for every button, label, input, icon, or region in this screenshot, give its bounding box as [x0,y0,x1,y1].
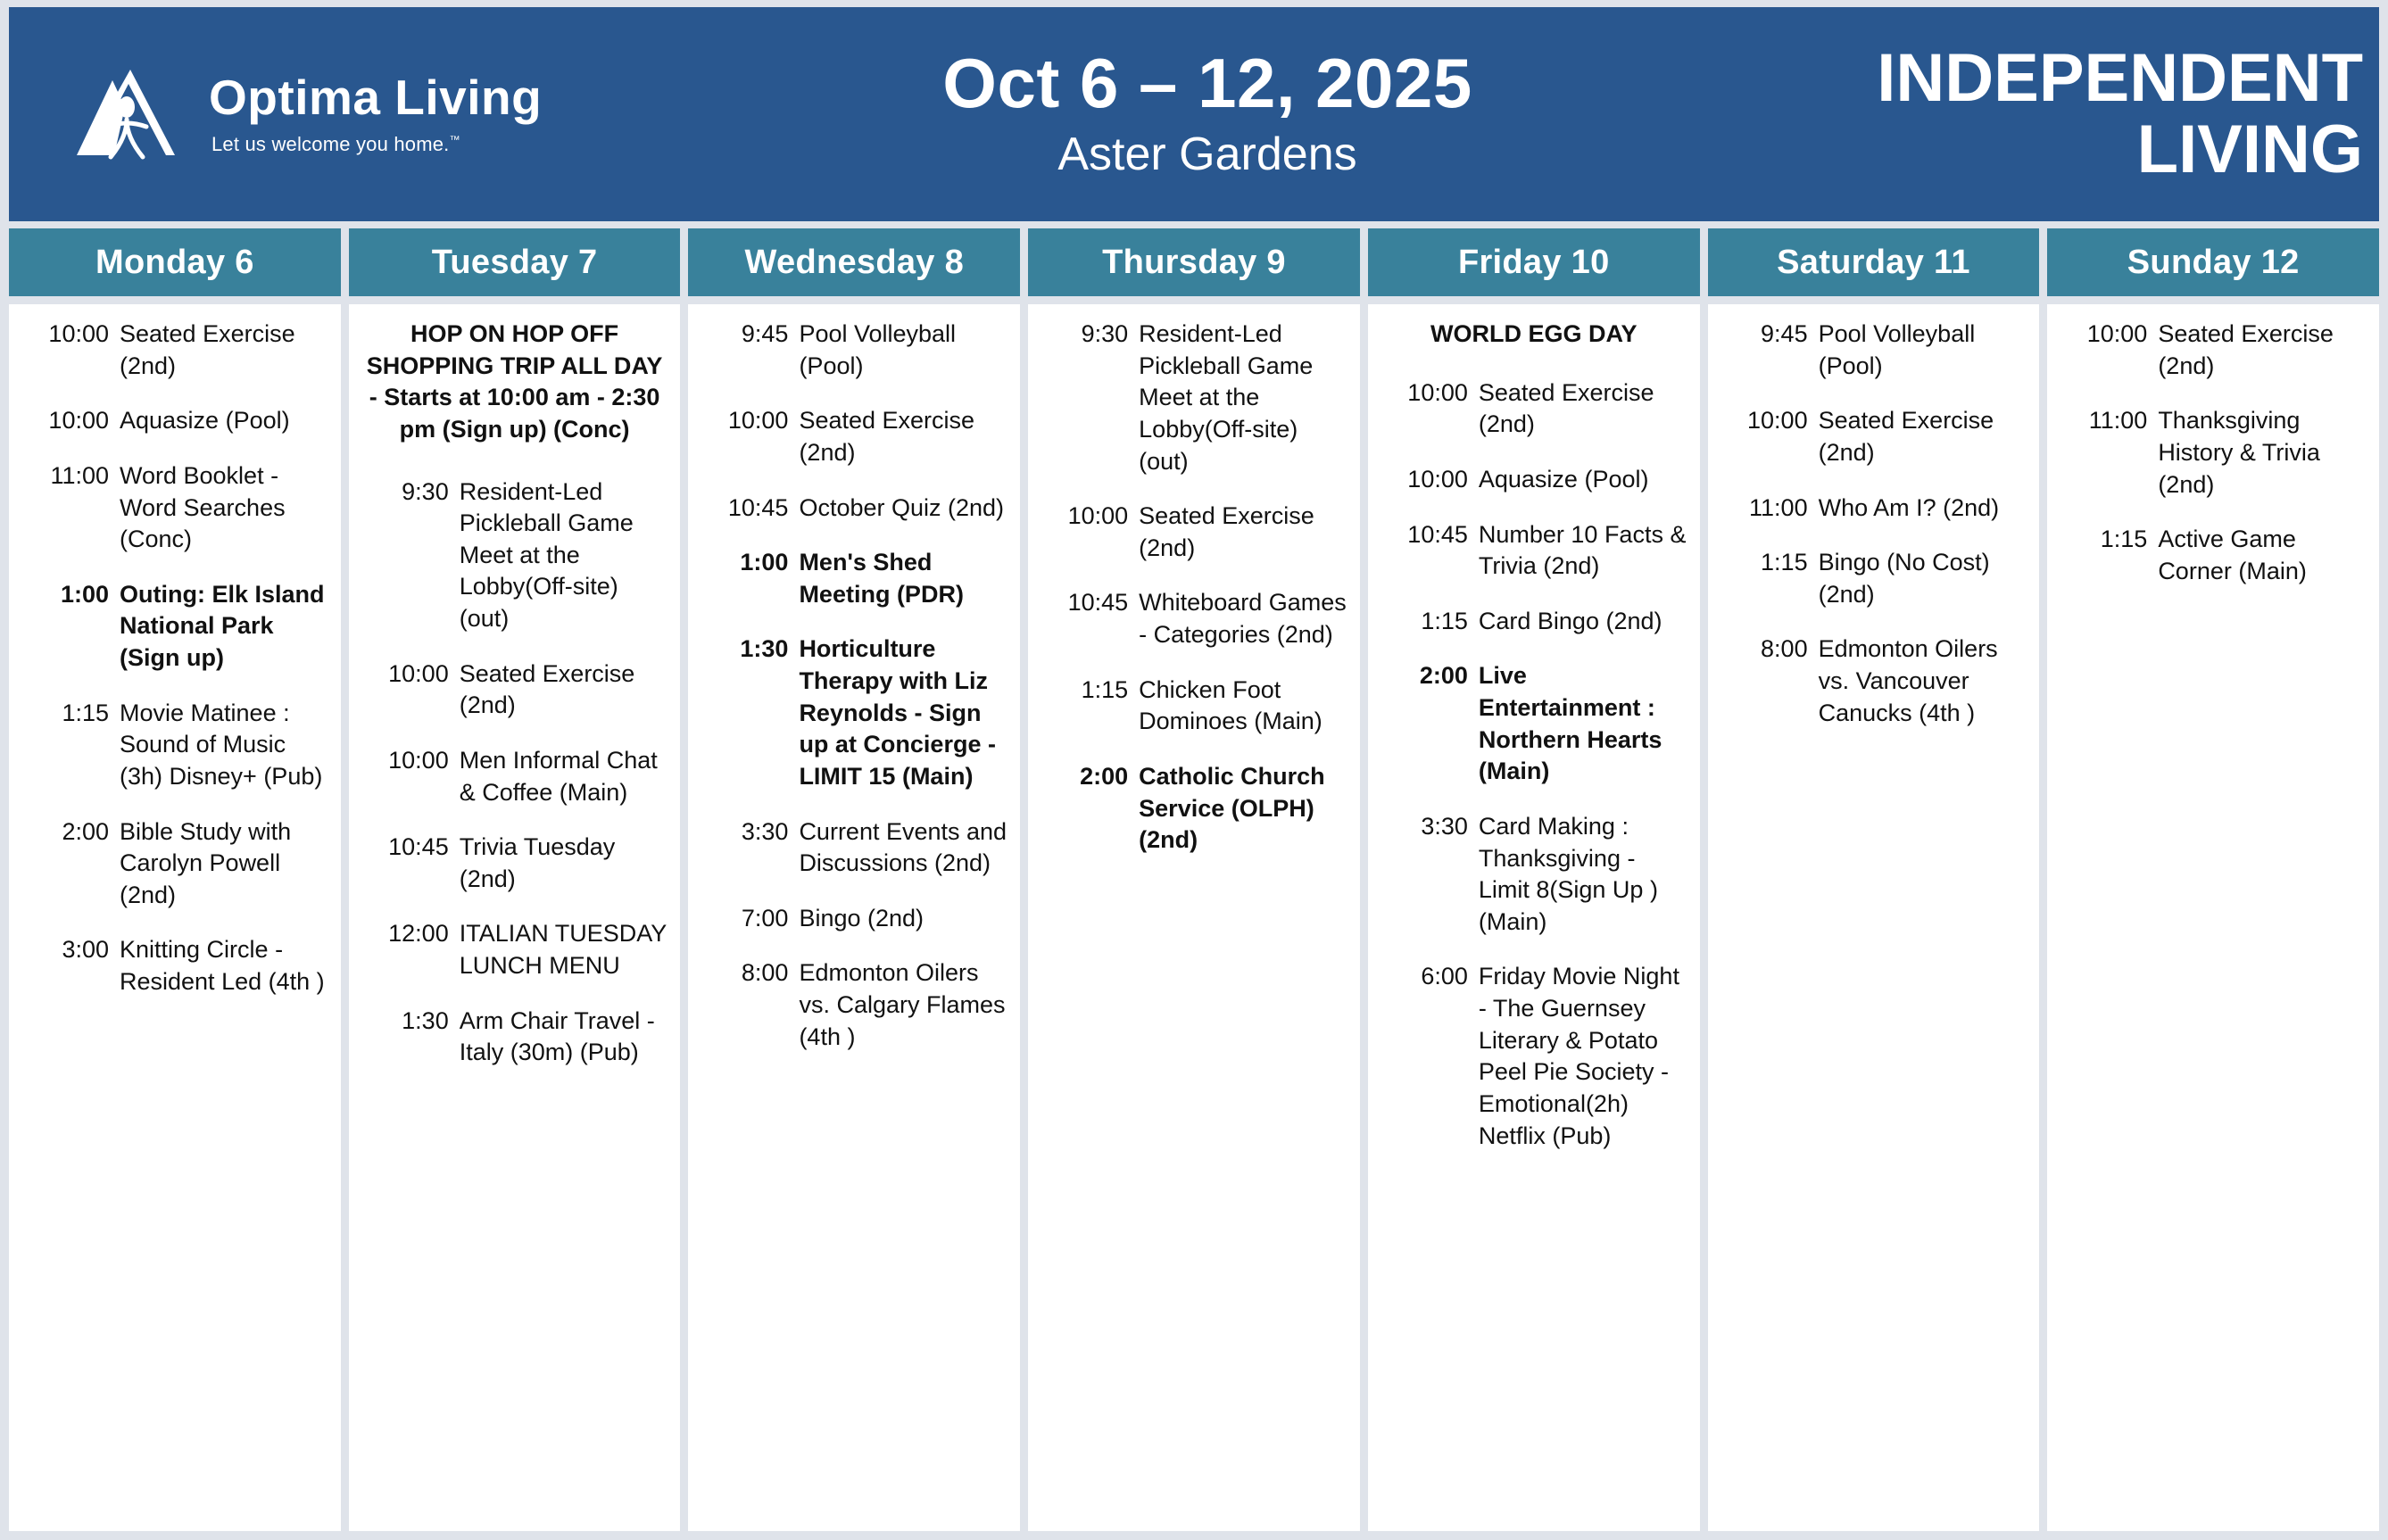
event-item: 2:00Live Entertainment : Northern Hearts… [1379,660,1689,788]
event-time: 1:15 [20,698,120,793]
event-description: Knitting Circle - Resident Led (4th ) [120,934,330,998]
trademark-symbol: ™ [450,134,460,146]
event-item: 12:00ITALIAN TUESDAY LUNCH MENU [360,918,670,981]
event-item: 11:00Thanksgiving History & Trivia (2nd) [2058,405,2368,501]
event-item: 10:00Seated Exercise (2nd) [1039,501,1349,564]
event-time: 10:00 [1379,377,1479,441]
event-time: 10:00 [699,405,799,468]
event-item: 11:00Word Booklet - Word Searches (Conc) [20,460,330,556]
event-time: 1:30 [360,1006,460,1069]
care-category-block: INDEPENDENT LIVING [1808,7,2379,221]
event-time: 2:00 [1379,660,1479,788]
event-time: 1:00 [20,579,120,675]
event-time: 10:00 [360,658,460,722]
event-item: 8:00Edmonton Oilers vs. Calgary Flames (… [699,957,1009,1053]
event-time: 2:00 [20,816,120,912]
event-description: Pool Volleyball (Pool) [1819,319,2029,382]
event-description: Edmonton Oilers vs. Calgary Flames (4th … [799,957,1009,1053]
event-description: Horticulture Therapy with Liz Reynolds -… [799,633,1009,792]
event-time: 3:00 [20,934,120,998]
event-item: 10:00Seated Exercise (2nd) [699,405,1009,468]
event-time: 9:30 [360,476,460,635]
event-description: Seated Exercise (2nd) [120,319,330,382]
event-time: 3:30 [699,816,799,880]
event-item: 9:45Pool Volleyball (Pool) [699,319,1009,382]
event-description: Seated Exercise (2nd) [1819,405,2029,468]
event-description: Seated Exercise (2nd) [1139,501,1349,564]
event-description: Bible Study with Carolyn Powell (2nd) [120,816,330,912]
event-description: Bingo (2nd) [799,903,1009,935]
event-item: 10:00Seated Exercise (2nd) [360,658,670,722]
brand-tagline: Let us welcome you home.™ [211,133,542,156]
event-description: Seated Exercise (2nd) [1479,377,1689,441]
brand-block: Optima Living Let us welcome you home.™ [9,7,705,221]
event-time: 10:45 [699,493,799,525]
date-range-title: Oct 6 – 12, 2025 [942,47,1472,120]
calendar-page: Optima Living Let us welcome you home.™ … [0,0,2388,1540]
event-description: October Quiz (2nd) [799,493,1009,525]
event-item: 10:45October Quiz (2nd) [699,493,1009,525]
event-item: 10:00Aquasize (Pool) [1379,464,1689,496]
event-time: 1:15 [1379,606,1479,638]
day-column-thursday: 9:30Resident-Led Pickleball Game Meet at… [1028,304,1360,1531]
event-time: 10:45 [1379,519,1479,583]
event-description: Resident-Led Pickleball Game Meet at the… [460,476,670,635]
event-description: Men's Shed Meeting (PDR) [799,547,1009,610]
event-time: 1:15 [1039,675,1139,738]
page-header: Optima Living Let us welcome you home.™ … [9,7,2379,221]
optima-living-mountain-logo-icon [71,64,187,164]
event-item: 10:00Seated Exercise (2nd) [1379,377,1689,441]
event-description: Card Making : Thanksgiving - Limit 8(Sig… [1479,811,1689,939]
event-time: 2:00 [1039,761,1139,857]
day-header-label: Friday 10 [1458,244,1610,282]
event-time: 10:00 [2058,319,2158,382]
event-time: 10:00 [20,319,120,382]
event-item: 3:30Current Events and Discussions (2nd) [699,816,1009,880]
event-item: 10:00Seated Exercise (2nd) [20,319,330,382]
event-item: 1:00Men's Shed Meeting (PDR) [699,547,1009,610]
event-time: 7:00 [699,903,799,935]
day-header-row: Monday 6 Tuesday 7 Wednesday 8 Thursday … [9,228,2379,296]
day-header-label: Saturday 11 [1777,244,1970,282]
day-column-saturday: 9:45Pool Volleyball (Pool)10:00Seated Ex… [1708,304,2040,1531]
day-header-label: Sunday 12 [2127,244,2300,282]
care-category-line-1: INDEPENDENT [1877,43,2363,114]
event-description: Who Am I? (2nd) [1819,493,2029,525]
event-time: 10:00 [1039,501,1139,564]
event-time: 11:00 [1719,493,1819,525]
event-item: 10:00Seated Exercise (2nd) [1719,405,2029,468]
event-description: Pool Volleyball (Pool) [799,319,1009,382]
day-header-thursday: Thursday 9 [1028,228,1360,296]
event-description: Seated Exercise (2nd) [799,405,1009,468]
event-item: 10:45Whiteboard Games - Categories (2nd) [1039,587,1349,650]
day-header-sunday: Sunday 12 [2047,228,2379,296]
event-time: 10:45 [1039,587,1139,650]
event-time: 11:00 [20,460,120,556]
event-description: Aquasize (Pool) [1479,464,1689,496]
event-description: Catholic Church Service (OLPH) (2nd) [1139,761,1349,857]
community-name: Aster Gardens [1057,128,1356,181]
event-description: Men Informal Chat & Coffee (Main) [460,745,670,808]
day-column-friday: WORLD EGG DAY10:00Seated Exercise (2nd)1… [1368,304,1700,1531]
event-item: 9:45Pool Volleyball (Pool) [1719,319,2029,382]
day-banner: HOP ON HOP OFF SHOPPING TRIP ALL DAY - S… [360,319,670,446]
day-columns-row: 10:00Seated Exercise (2nd)10:00Aquasize … [9,304,2379,1531]
event-description: Resident-Led Pickleball Game Meet at the… [1139,319,1349,477]
event-item: 10:00Seated Exercise (2nd) [2058,319,2368,382]
event-description: Edmonton Oilers vs. Vancouver Canucks (4… [1819,633,2029,729]
event-description: Live Entertainment : Northern Hearts (Ma… [1479,660,1689,788]
day-column-wednesday: 9:45Pool Volleyball (Pool)10:00Seated Ex… [688,304,1020,1531]
date-range-block: Oct 6 – 12, 2025 Aster Gardens [705,7,1808,221]
event-item: 10:00Aquasize (Pool) [20,405,330,437]
event-time: 1:15 [1719,547,1819,610]
event-description: Movie Matinee : Sound of Music (3h) Disn… [120,698,330,793]
event-item: 6:00Friday Movie Night - The Guernsey Li… [1379,961,1689,1152]
event-time: 1:00 [699,547,799,610]
event-description: Card Bingo (2nd) [1479,606,1689,638]
event-description: Aquasize (Pool) [120,405,330,437]
event-time: 9:45 [1719,319,1819,382]
day-column-tuesday: HOP ON HOP OFF SHOPPING TRIP ALL DAY - S… [349,304,681,1531]
day-header-friday: Friday 10 [1368,228,1700,296]
event-description: Active Game Corner (Main) [2158,524,2368,587]
event-time: 9:30 [1039,319,1139,477]
event-item: 2:00Catholic Church Service (OLPH) (2nd) [1039,761,1349,857]
day-column-sunday: 10:00Seated Exercise (2nd)11:00Thanksgiv… [2047,304,2379,1531]
day-header-wednesday: Wednesday 8 [688,228,1020,296]
event-description: Chicken Foot Dominoes (Main) [1139,675,1349,738]
day-header-label: Wednesday 8 [745,244,964,282]
event-description: Number 10 Facts & Trivia (2nd) [1479,519,1689,583]
event-item: 9:30Resident-Led Pickleball Game Meet at… [1039,319,1349,477]
event-time: 10:00 [20,405,120,437]
event-item: 1:00Outing: Elk Island National Park (Si… [20,579,330,675]
event-description: Friday Movie Night - The Guernsey Litera… [1479,961,1689,1152]
event-item: 10:45Number 10 Facts & Trivia (2nd) [1379,519,1689,583]
event-item: 1:15Chicken Foot Dominoes (Main) [1039,675,1349,738]
event-description: Seated Exercise (2nd) [2158,319,2368,382]
event-item: 9:30Resident-Led Pickleball Game Meet at… [360,476,670,635]
event-description: Current Events and Discussions (2nd) [799,816,1009,880]
event-description: ITALIAN TUESDAY LUNCH MENU [460,918,670,981]
event-item: 1:15Active Game Corner (Main) [2058,524,2368,587]
event-item: 1:15Card Bingo (2nd) [1379,606,1689,638]
event-item: 10:00Men Informal Chat & Coffee (Main) [360,745,670,808]
event-item: 2:00Bible Study with Carolyn Powell (2nd… [20,816,330,912]
event-item: 1:30Horticulture Therapy with Liz Reynol… [699,633,1009,792]
event-description: Arm Chair Travel - Italy (30m) (Pub) [460,1006,670,1069]
day-header-tuesday: Tuesday 7 [349,228,681,296]
day-header-label: Tuesday 7 [432,244,598,282]
event-item: 7:00Bingo (2nd) [699,903,1009,935]
event-time: 3:30 [1379,811,1479,939]
event-time: 1:30 [699,633,799,792]
event-description: Whiteboard Games - Categories (2nd) [1139,587,1349,650]
event-time: 8:00 [1719,633,1819,729]
event-description: Thanksgiving History & Trivia (2nd) [2158,405,2368,501]
day-header-label: Monday 6 [95,244,254,282]
day-column-monday: 10:00Seated Exercise (2nd)10:00Aquasize … [9,304,341,1531]
event-description: Outing: Elk Island National Park (Sign u… [120,579,330,675]
event-description: Trivia Tuesday (2nd) [460,832,670,895]
event-time: 10:45 [360,832,460,895]
event-item: 1:30Arm Chair Travel - Italy (30m) (Pub) [360,1006,670,1069]
day-header-saturday: Saturday 11 [1708,228,2040,296]
event-description: Seated Exercise (2nd) [460,658,670,722]
event-item: 11:00Who Am I? (2nd) [1719,493,2029,525]
event-time: 10:00 [1719,405,1819,468]
event-item: 1:15Movie Matinee : Sound of Music (3h) … [20,698,330,793]
event-description: Word Booklet - Word Searches (Conc) [120,460,330,556]
event-item: 10:45Trivia Tuesday (2nd) [360,832,670,895]
event-time: 11:00 [2058,405,2158,501]
event-description: Bingo (No Cost) (2nd) [1819,547,2029,610]
event-item: 3:30Card Making : Thanksgiving - Limit 8… [1379,811,1689,939]
event-item: 3:00Knitting Circle - Resident Led (4th … [20,934,330,998]
event-time: 8:00 [699,957,799,1053]
event-time: 12:00 [360,918,460,981]
event-time: 1:15 [2058,524,2158,587]
day-header-label: Thursday 9 [1102,244,1286,282]
day-header-monday: Monday 6 [9,228,341,296]
event-time: 9:45 [699,319,799,382]
day-banner: WORLD EGG DAY [1379,319,1689,351]
brand-name: Optima Living [209,72,542,124]
event-time: 10:00 [1379,464,1479,496]
event-time: 6:00 [1379,961,1479,1152]
care-category-line-2: LIVING [2137,114,2363,186]
event-item: 8:00Edmonton Oilers vs. Vancouver Canuck… [1719,633,2029,729]
event-time: 10:00 [360,745,460,808]
event-item: 1:15Bingo (No Cost) (2nd) [1719,547,2029,610]
